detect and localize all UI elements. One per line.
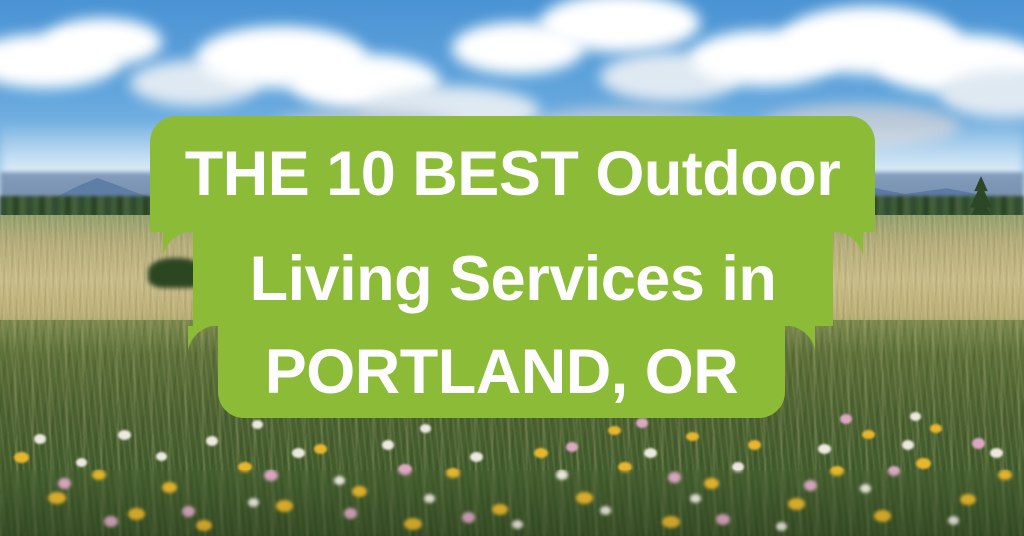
headline-highlight-block: THE 10 BEST Outdoor Living Services in P…: [0, 0, 1024, 536]
headline-line-2-background: Living Services in: [193, 232, 833, 326]
headline-line-3: PORTLAND, OR: [265, 341, 738, 404]
hero-banner: THE 10 BEST Outdoor Living Services in P…: [0, 0, 1024, 536]
headline-notch-right-1: [833, 232, 863, 262]
headline-line-1-background: THE 10 BEST Outdoor: [150, 116, 875, 232]
headline-line-1: THE 10 BEST Outdoor: [185, 143, 841, 206]
headline-notch-left-2: [188, 326, 218, 356]
headline-line-3-background: PORTLAND, OR: [218, 326, 785, 418]
headline-line-2: Living Services in: [250, 248, 777, 311]
headline-notch-left-1: [163, 232, 193, 262]
headline-notch-right-2: [785, 326, 815, 356]
